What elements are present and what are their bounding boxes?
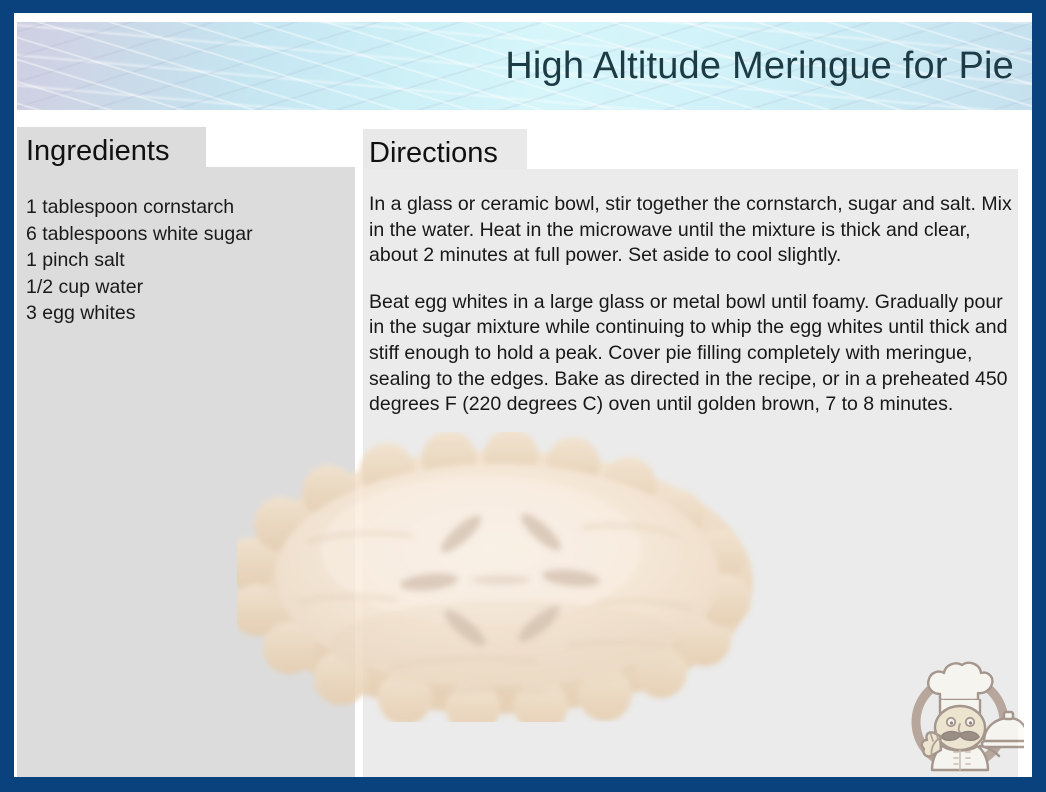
list-item: 1 tablespoon cornstarch bbox=[26, 194, 347, 221]
frame-border-right bbox=[1032, 0, 1046, 792]
recipe-card-page: High Altitude Meringue for Pie 1 tablesp… bbox=[0, 0, 1046, 792]
list-item: 1 pinch salt bbox=[26, 247, 347, 274]
directions-panel: In a glass or ceramic bowl, stir togethe… bbox=[363, 169, 1018, 777]
header-banner: High Altitude Meringue for Pie bbox=[17, 22, 1032, 110]
ingredients-heading-label: Ingredients bbox=[26, 136, 170, 166]
list-item: 6 tablespoons white sugar bbox=[26, 221, 347, 248]
directions-text: In a glass or ceramic bowl, stir togethe… bbox=[369, 192, 1017, 418]
directions-heading-tab: Directions bbox=[363, 129, 527, 169]
directions-paragraph-2: Beat egg whites in a large glass or meta… bbox=[369, 290, 1017, 418]
directions-heading-label: Directions bbox=[369, 138, 498, 168]
ingredients-panel: 1 tablespoon cornstarch 6 tablespoons wh… bbox=[17, 167, 355, 777]
page-title: High Altitude Meringue for Pie bbox=[505, 47, 1014, 85]
frame-border-left bbox=[0, 0, 14, 792]
list-item: 1/2 cup water bbox=[26, 274, 347, 301]
ingredients-list: 1 tablespoon cornstarch 6 tablespoons wh… bbox=[26, 194, 347, 327]
directions-paragraph-1: In a glass or ceramic bowl, stir togethe… bbox=[369, 192, 1017, 269]
frame-border-top bbox=[0, 0, 1046, 13]
list-item: 3 egg whites bbox=[26, 300, 347, 327]
ingredients-heading-tab: Ingredients bbox=[17, 127, 206, 167]
frame-border-bottom bbox=[0, 777, 1046, 792]
